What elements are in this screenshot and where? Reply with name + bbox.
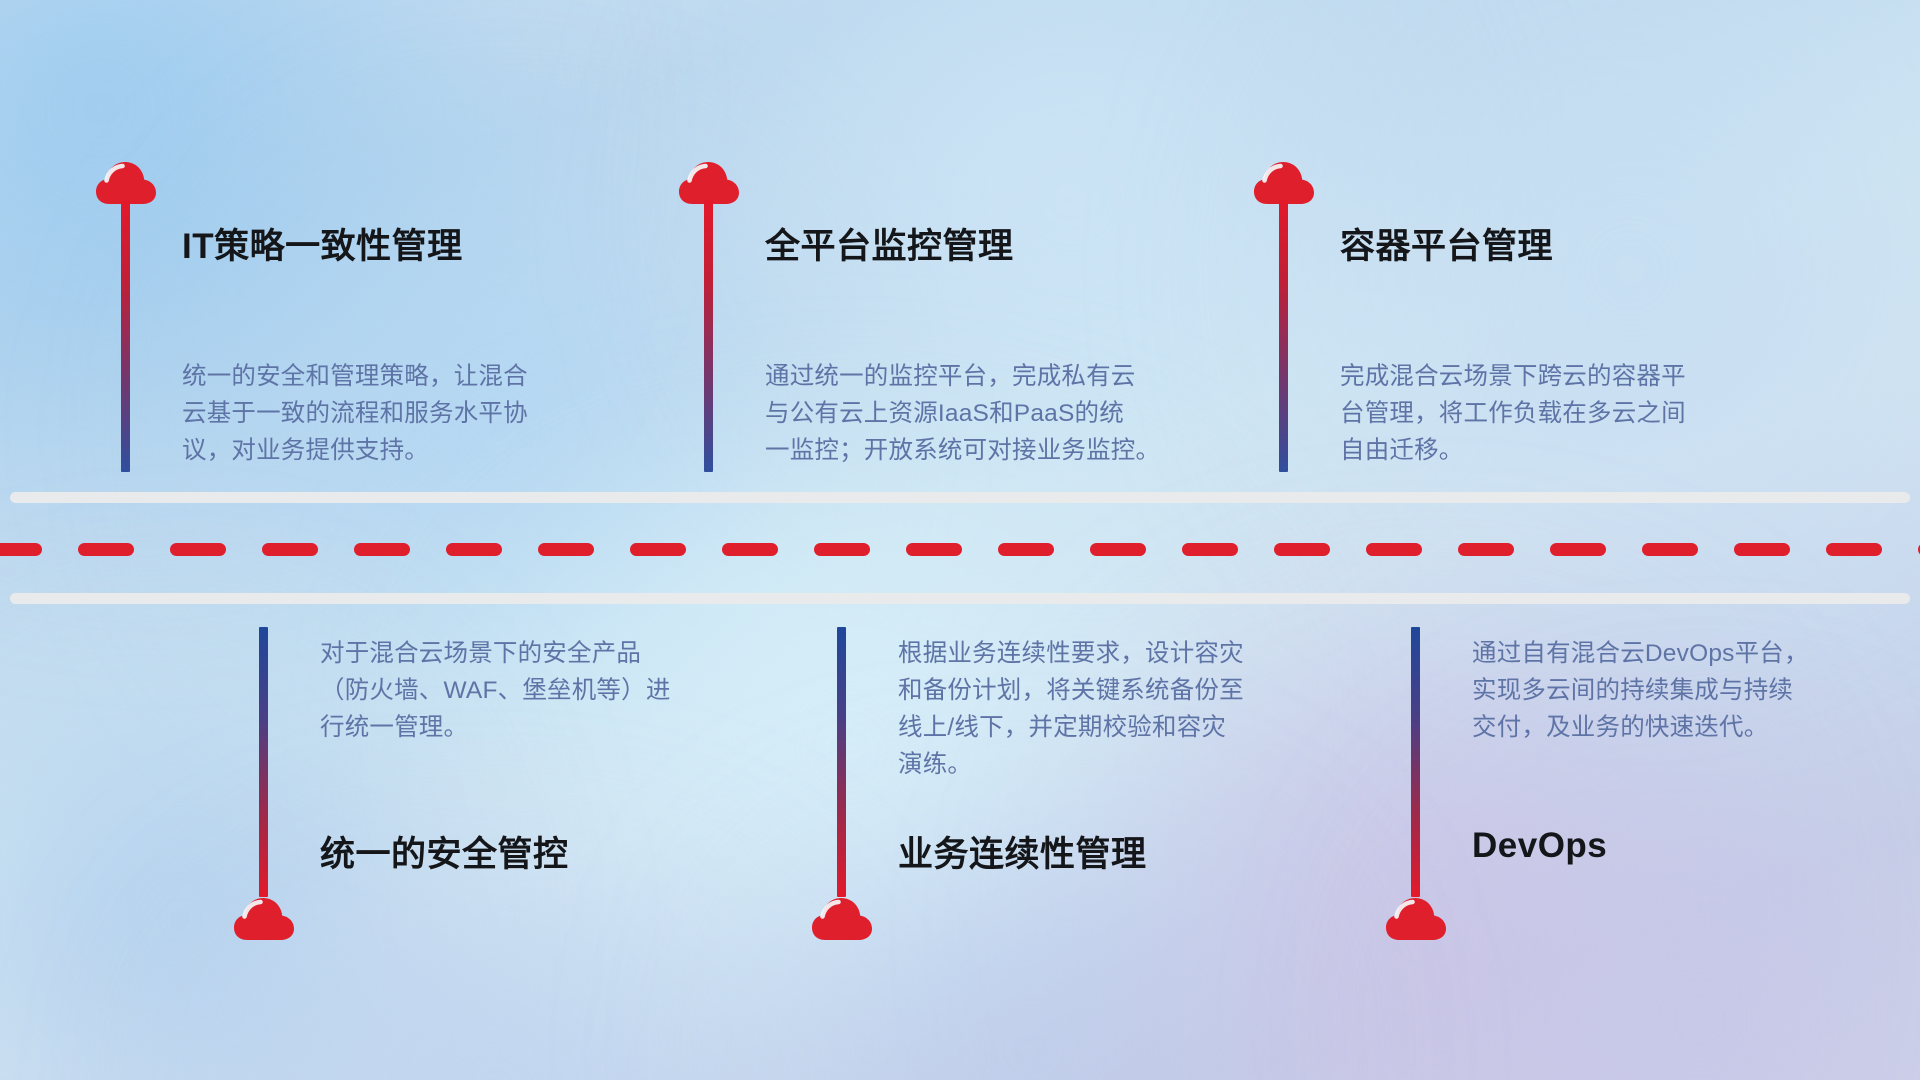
infographic-canvas: IT策略一致性管理 统一的安全和管理策略，让混合 云基于一致的流程和服务水平协 … <box>0 0 1920 1080</box>
divider-dash <box>1826 543 1882 556</box>
divider-line-top <box>10 492 1910 503</box>
divider-dash <box>78 543 134 556</box>
divider-dash <box>1642 543 1698 556</box>
column-title: IT策略一致性管理 <box>182 218 463 269</box>
divider-dash <box>0 543 42 556</box>
column-description: 对于混合云场景下的安全产品 （防火墙、WAF、堡垒机等）进 行统一管理。 <box>320 635 740 746</box>
connector-stem <box>259 627 268 897</box>
cloud-icon <box>1385 896 1447 942</box>
divider-dash <box>1274 543 1330 556</box>
column-title: DevOps <box>1472 826 1607 866</box>
connector-stem <box>121 200 130 472</box>
divider-dash <box>814 543 870 556</box>
divider-line-dashed <box>0 543 1920 556</box>
column-title: 业务连续性管理 <box>898 826 1147 877</box>
divider-dash <box>1734 543 1790 556</box>
divider-dash <box>262 543 318 556</box>
divider-dash <box>1550 543 1606 556</box>
divider-dash <box>446 543 502 556</box>
divider-dash <box>1366 543 1422 556</box>
divider-dash <box>1182 543 1238 556</box>
cloud-icon <box>233 896 295 942</box>
divider-dash <box>1458 543 1514 556</box>
column-title: 容器平台管理 <box>1340 218 1553 269</box>
column-description: 通过自有混合云DevOps平台， 实现多云间的持续集成与持续 交付，及业务的快速… <box>1472 635 1892 746</box>
connector-stem <box>1411 627 1420 897</box>
column-description: 根据业务连续性要求，设计容灾 和备份计划，将关键系统备份至 线上/线下，并定期校… <box>898 635 1318 783</box>
column-description: 通过统一的监控平台，完成私有云 与公有云上资源IaaS和PaaS的统 一监控；开… <box>765 358 1205 469</box>
column-description: 统一的安全和管理策略，让混合 云基于一致的流程和服务水平协 议，对业务提供支持。 <box>182 358 602 469</box>
connector-stem <box>704 200 713 472</box>
divider-dash <box>906 543 962 556</box>
divider-dash <box>630 543 686 556</box>
connector-stem <box>837 627 846 897</box>
divider-dash <box>538 543 594 556</box>
column-title: 全平台监控管理 <box>765 218 1014 269</box>
divider-dash <box>722 543 778 556</box>
connector-stem <box>1279 200 1288 472</box>
divider-dash <box>998 543 1054 556</box>
divider-dash <box>170 543 226 556</box>
divider-dash <box>1090 543 1146 556</box>
cloud-icon <box>811 896 873 942</box>
divider-dash <box>354 543 410 556</box>
column-title: 统一的安全管控 <box>320 826 569 877</box>
column-description: 完成混合云场景下跨云的容器平 台管理，将工作负载在多云之间 自由迁移。 <box>1340 358 1780 469</box>
divider-line-bottom <box>10 593 1910 604</box>
